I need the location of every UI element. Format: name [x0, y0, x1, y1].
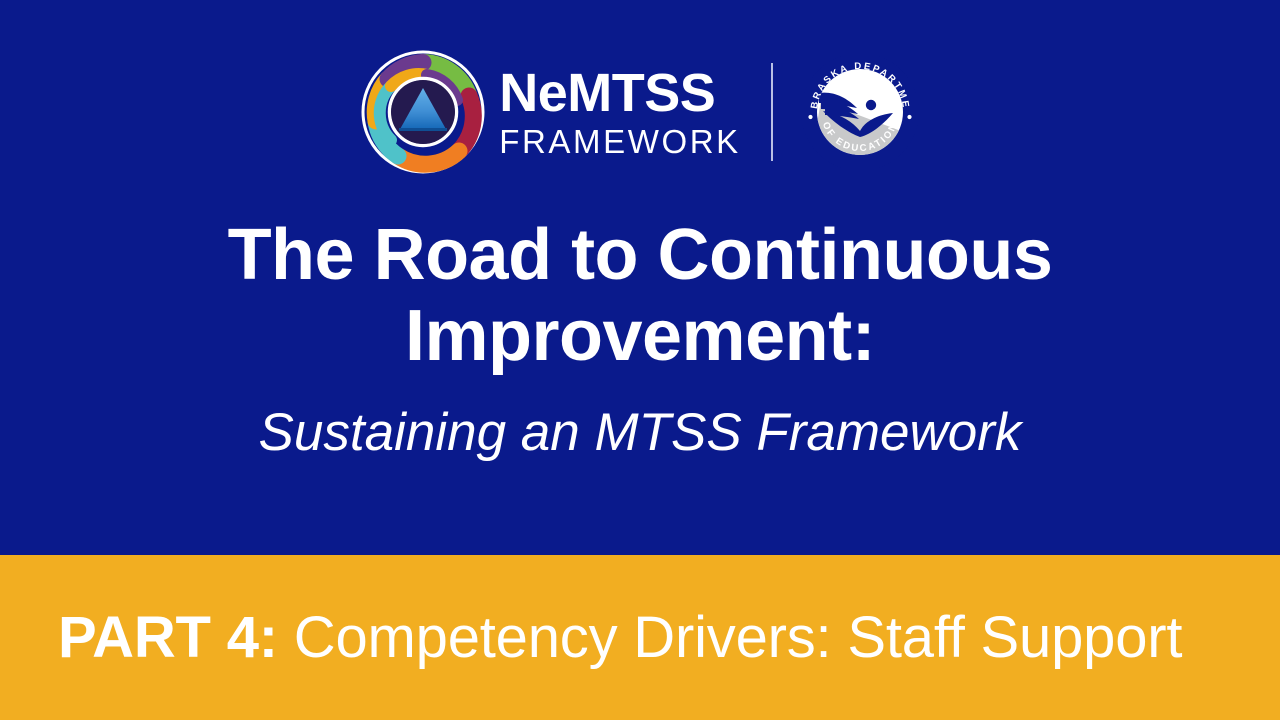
part-title: Competency Drivers: Staff Support: [278, 605, 1182, 670]
wordmark-sub: FRAMEWORK: [499, 125, 741, 158]
title-block: The Road to Continuous Improvement: Sust…: [90, 215, 1190, 462]
part-label: PART 4:: [58, 605, 278, 670]
nemtss-wordmark: NeMTSS FRAMEWORK: [499, 66, 741, 158]
part-band-text: PART 4: Competency Drivers: Staff Suppor…: [0, 609, 1182, 667]
page-subtitle: Sustaining an MTSS Framework: [90, 404, 1190, 462]
logo-lockup: NeMTSS FRAMEWORK: [0, 38, 1280, 186]
nebraska-department-of-education-seal: NEBRASKA DEPARTMENT OF EDUCATION: [801, 53, 919, 171]
headline-line-2: Improvement:: [405, 296, 875, 376]
nemtss-triangle-swirl-logo: [361, 50, 485, 174]
part-band: PART 4: Competency Drivers: Staff Suppor…: [0, 555, 1280, 720]
logo-divider: [771, 63, 773, 161]
title-slide: NeMTSS FRAMEWORK: [0, 0, 1280, 720]
headline-line-1: The Road to Continuous: [228, 215, 1053, 295]
wordmark-main: NeMTSS: [499, 66, 741, 120]
page-title: The Road to Continuous Improvement:: [90, 215, 1190, 378]
